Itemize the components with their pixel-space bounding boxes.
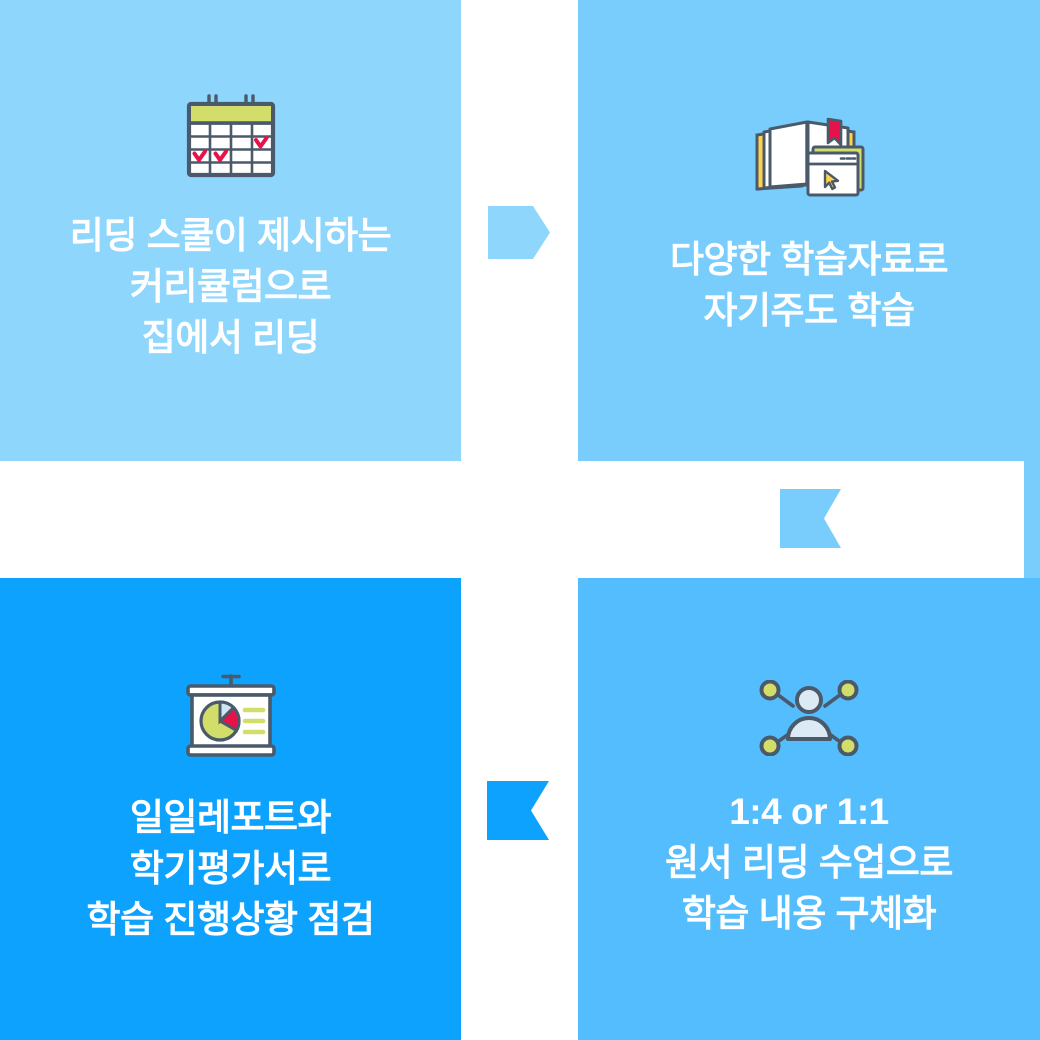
feature-panel-top-left[interactable]: 리딩 스쿨이 제시하는 커리큘럼으로 집에서 리딩	[0, 0, 461, 461]
connector-br-to-bl	[487, 781, 549, 840]
feature-panel-bottom-right[interactable]: 1:4 or 1:1 원서 리딩 수업으로 학습 내용 구체화	[578, 578, 1040, 1040]
connector-tl-to-tr	[488, 206, 550, 259]
connector-tr-to-br	[780, 489, 841, 548]
feature-text-bottom-left: 일일레포트와 학기평가서로 학습 진행상황 점검	[87, 792, 375, 945]
feature-text-top-right: 다양한 학습자료로 자기주도 학습	[670, 234, 948, 336]
feature-panel-bottom-left[interactable]: 일일레포트와 학기평가서로 학습 진행상황 점검	[0, 578, 461, 1040]
feature-text-top-left: 리딩 스쿨이 제시하는 커리큘럼으로 집에서 리딩	[70, 210, 391, 363]
calendar-icon	[183, 93, 279, 179]
feature-text-bottom-right: 1:4 or 1:1 원서 리딩 수업으로 학습 내용 구체화	[665, 786, 953, 939]
open-book-with-browser-icon	[751, 116, 867, 198]
feature-panel-top-right[interactable]: 다양한 학습자료로 자기주도 학습	[578, 0, 1040, 461]
panel-edge-strip	[1024, 461, 1040, 578]
feature-grid: 리딩 스쿨이 제시하는 커리큘럼으로 집에서 리딩	[0, 0, 1040, 1040]
person-network-icon	[759, 680, 859, 756]
presentation-pie-chart-icon	[183, 674, 279, 760]
